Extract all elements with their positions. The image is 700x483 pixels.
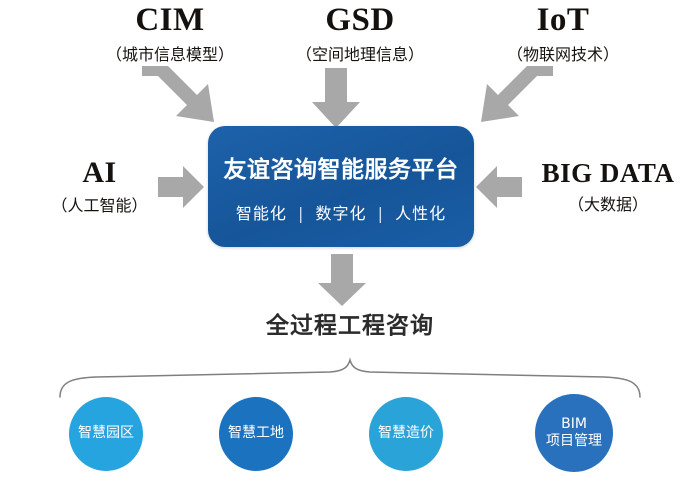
source-abbr-gsd: GSD xyxy=(255,4,465,37)
arrow-platform-to-outcome xyxy=(318,254,366,306)
service-circle-2: 智慧造价 xyxy=(369,397,443,471)
platform-tag-1: 数字化 xyxy=(315,204,366,223)
platform-tags: 智能化 | 数字化 | 人性化 xyxy=(236,200,446,224)
source-abbr-iot: IoT xyxy=(463,4,663,37)
platform-card: 友谊咨询智能服务平台 智能化 | 数字化 | 人性化 xyxy=(208,126,474,247)
source-cn-cim: （城市信息模型） xyxy=(60,46,280,64)
arrow-cim-to-platform xyxy=(142,66,214,122)
source-label-iot: IoT （物联网技术） xyxy=(463,4,663,64)
arrow-bigdata-to-platform xyxy=(476,166,522,208)
arrow-gsd-to-platform xyxy=(312,68,360,128)
service-brace xyxy=(60,360,640,397)
service-circle-3-line1: BIM xyxy=(561,416,587,434)
source-cn-ai: （人工智能） xyxy=(22,197,177,215)
source-abbr-ai: AI xyxy=(22,158,177,188)
service-circle-0: 智慧园区 xyxy=(69,397,143,471)
source-label-gsd: GSD （空间地理信息） xyxy=(255,4,465,64)
source-cn-iot: （物联网技术） xyxy=(463,46,663,64)
platform-title: 友谊咨询智能服务平台 xyxy=(224,150,459,184)
service-circle-1: 智慧工地 xyxy=(219,397,293,471)
source-cn-gsd: （空间地理信息） xyxy=(255,46,465,64)
source-label-cim: CIM （城市信息模型） xyxy=(60,4,280,64)
source-cn-bigdata: （大数据） xyxy=(518,196,698,214)
source-label-ai: AI （人工智能） xyxy=(22,158,177,215)
service-circle-1-line1: 智慧工地 xyxy=(228,425,284,443)
service-circle-0-line1: 智慧园区 xyxy=(78,425,134,443)
platform-tag-separator-0: | xyxy=(293,204,309,223)
source-abbr-bigdata: BIG DATA xyxy=(518,160,698,187)
platform-tag-2: 人性化 xyxy=(395,204,446,223)
outcome-title: 全过程工程咨询 xyxy=(0,306,700,340)
service-circle-2-line1: 智慧造价 xyxy=(378,425,434,443)
source-abbr-cim: CIM xyxy=(60,4,280,37)
service-circle-3: BIM 项目管理 xyxy=(535,394,613,472)
arrow-iot-to-platform xyxy=(481,66,553,122)
service-circle-3-line2: 项目管理 xyxy=(546,433,602,451)
platform-tag-separator-1: | xyxy=(373,204,389,223)
source-label-bigdata: BIG DATA （大数据） xyxy=(518,160,698,214)
platform-tag-0: 智能化 xyxy=(236,204,287,223)
